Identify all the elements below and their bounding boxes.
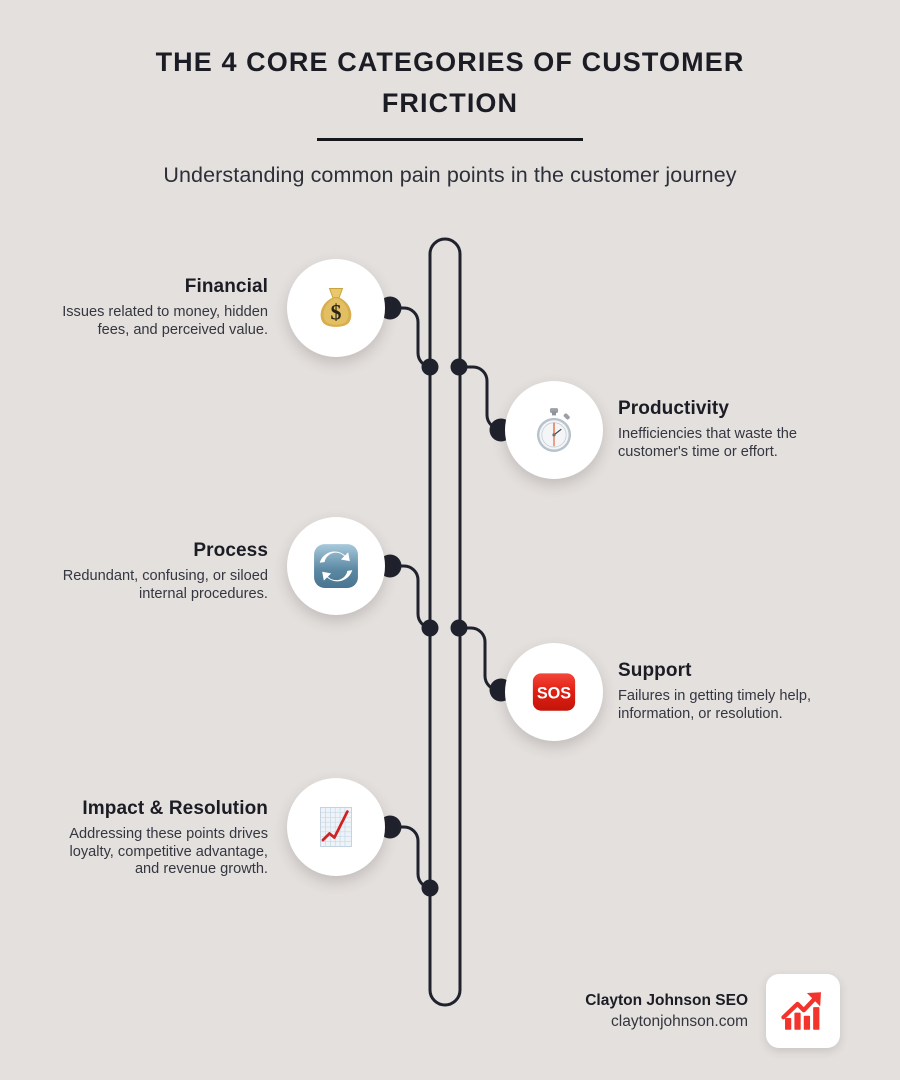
category-icon-bubble-productivity <box>505 381 603 479</box>
category-label: Support <box>618 660 840 682</box>
stopwatch-icon <box>528 404 580 456</box>
category-text-financial: Financial Issues related to money, hidde… <box>46 276 268 339</box>
brand-name: Clayton Johnson SEO <box>585 990 748 1011</box>
category-text-impact: Impact & Resolution Addressing these poi… <box>46 798 268 879</box>
category-description: Redundant, confusing, or siloed internal… <box>46 568 268 603</box>
connector-productivity <box>459 367 503 429</box>
title-divider <box>317 138 583 141</box>
infographic-canvas: THE 4 CORE CATEGORIES OF CUSTOMER FRICTI… <box>0 0 900 1080</box>
brand-url[interactable]: claytonjohnson.com <box>585 1011 748 1033</box>
track-dot-process <box>422 620 439 637</box>
header: THE 4 CORE CATEGORIES OF CUSTOMER FRICTI… <box>0 42 900 188</box>
category-text-process: Process Redundant, confusing, or siloed … <box>46 540 268 603</box>
connector-financial <box>390 308 434 367</box>
refresh-sync-icon <box>310 540 362 592</box>
category-label: Process <box>46 540 268 562</box>
svg-text:SOS: SOS <box>537 685 571 703</box>
connector-process <box>390 566 434 628</box>
track-dot-productivity <box>451 359 468 376</box>
money-bag-icon: $ <box>310 282 362 334</box>
brand-logo <box>766 974 840 1048</box>
category-text-support: Support Failures in getting timely help,… <box>618 660 840 723</box>
track-dot-support <box>451 620 468 637</box>
category-icon-bubble-process <box>287 517 385 615</box>
category-description: Issues related to money, hidden fees, an… <box>46 304 268 339</box>
category-label: Productivity <box>618 398 840 420</box>
footer: Clayton Johnson SEO claytonjohnson.com <box>500 972 840 1050</box>
track-dot-impact <box>422 880 439 897</box>
track-loop <box>430 239 460 1005</box>
category-description: Inefficiencies that waste the customer's… <box>618 426 840 461</box>
track-dot-financial <box>422 359 439 376</box>
footer-text: Clayton Johnson SEO claytonjohnson.com <box>585 990 748 1033</box>
growth-chart-logo-icon <box>778 986 828 1036</box>
chart-increasing-icon <box>310 801 362 853</box>
page-subtitle: Understanding common pain points in the … <box>0 163 900 188</box>
category-icon-bubble-financial: $ <box>287 259 385 357</box>
category-description: Failures in getting timely help, informa… <box>618 688 840 723</box>
sos-button-icon: SOS <box>528 666 580 718</box>
category-description: Addressing these points drives loyalty, … <box>46 826 268 879</box>
category-icon-bubble-support: SOS <box>505 643 603 741</box>
page-title: THE 4 CORE CATEGORIES OF CUSTOMER FRICTI… <box>130 42 770 124</box>
category-label: Impact & Resolution <box>46 798 268 820</box>
category-text-productivity: Productivity Inefficiencies that waste t… <box>618 398 840 461</box>
svg-text:$: $ <box>331 299 342 324</box>
category-label: Financial <box>46 276 268 298</box>
connector-support <box>459 628 501 690</box>
connector-impact <box>390 827 434 888</box>
category-icon-bubble-impact <box>287 778 385 876</box>
